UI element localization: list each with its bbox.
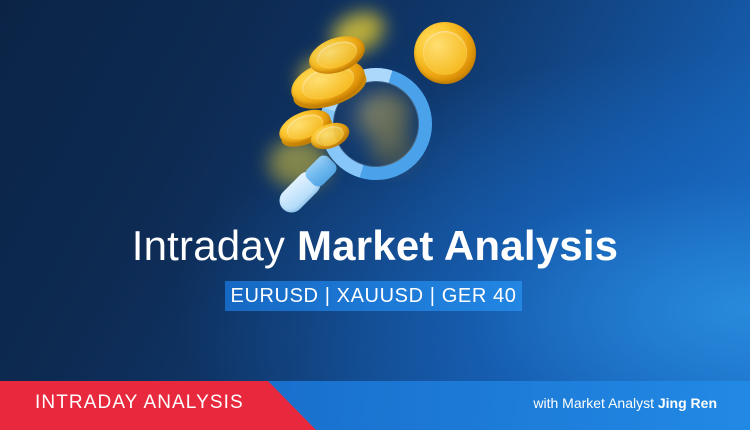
title-bold-part: Market Analysis [297, 222, 618, 269]
title-light-part: Intraday [132, 222, 297, 269]
magnifier-coins-artwork [262, 0, 512, 215]
gold-coin-right [410, 18, 480, 88]
intraday-market-analysis-banner: Intraday Market Analysis EURUSD | XAUUSD… [0, 0, 750, 430]
instruments-badge-label: EURUSD | XAUUSD | GER 40 [231, 285, 517, 308]
analyst-byline: with Market Analyst Jing Ren [533, 395, 717, 411]
footer-bar: INTRADAY ANALYSIS with Market Analyst Ji… [0, 381, 750, 430]
byline-prefix: with Market Analyst [533, 395, 658, 411]
page-title: Intraday Market Analysis [0, 220, 750, 272]
category-label: INTRADAY ANALYSIS [35, 392, 244, 414]
analyst-name: Jing Ren [658, 395, 717, 411]
instruments-badge: EURUSD | XAUUSD | GER 40 [225, 281, 522, 311]
